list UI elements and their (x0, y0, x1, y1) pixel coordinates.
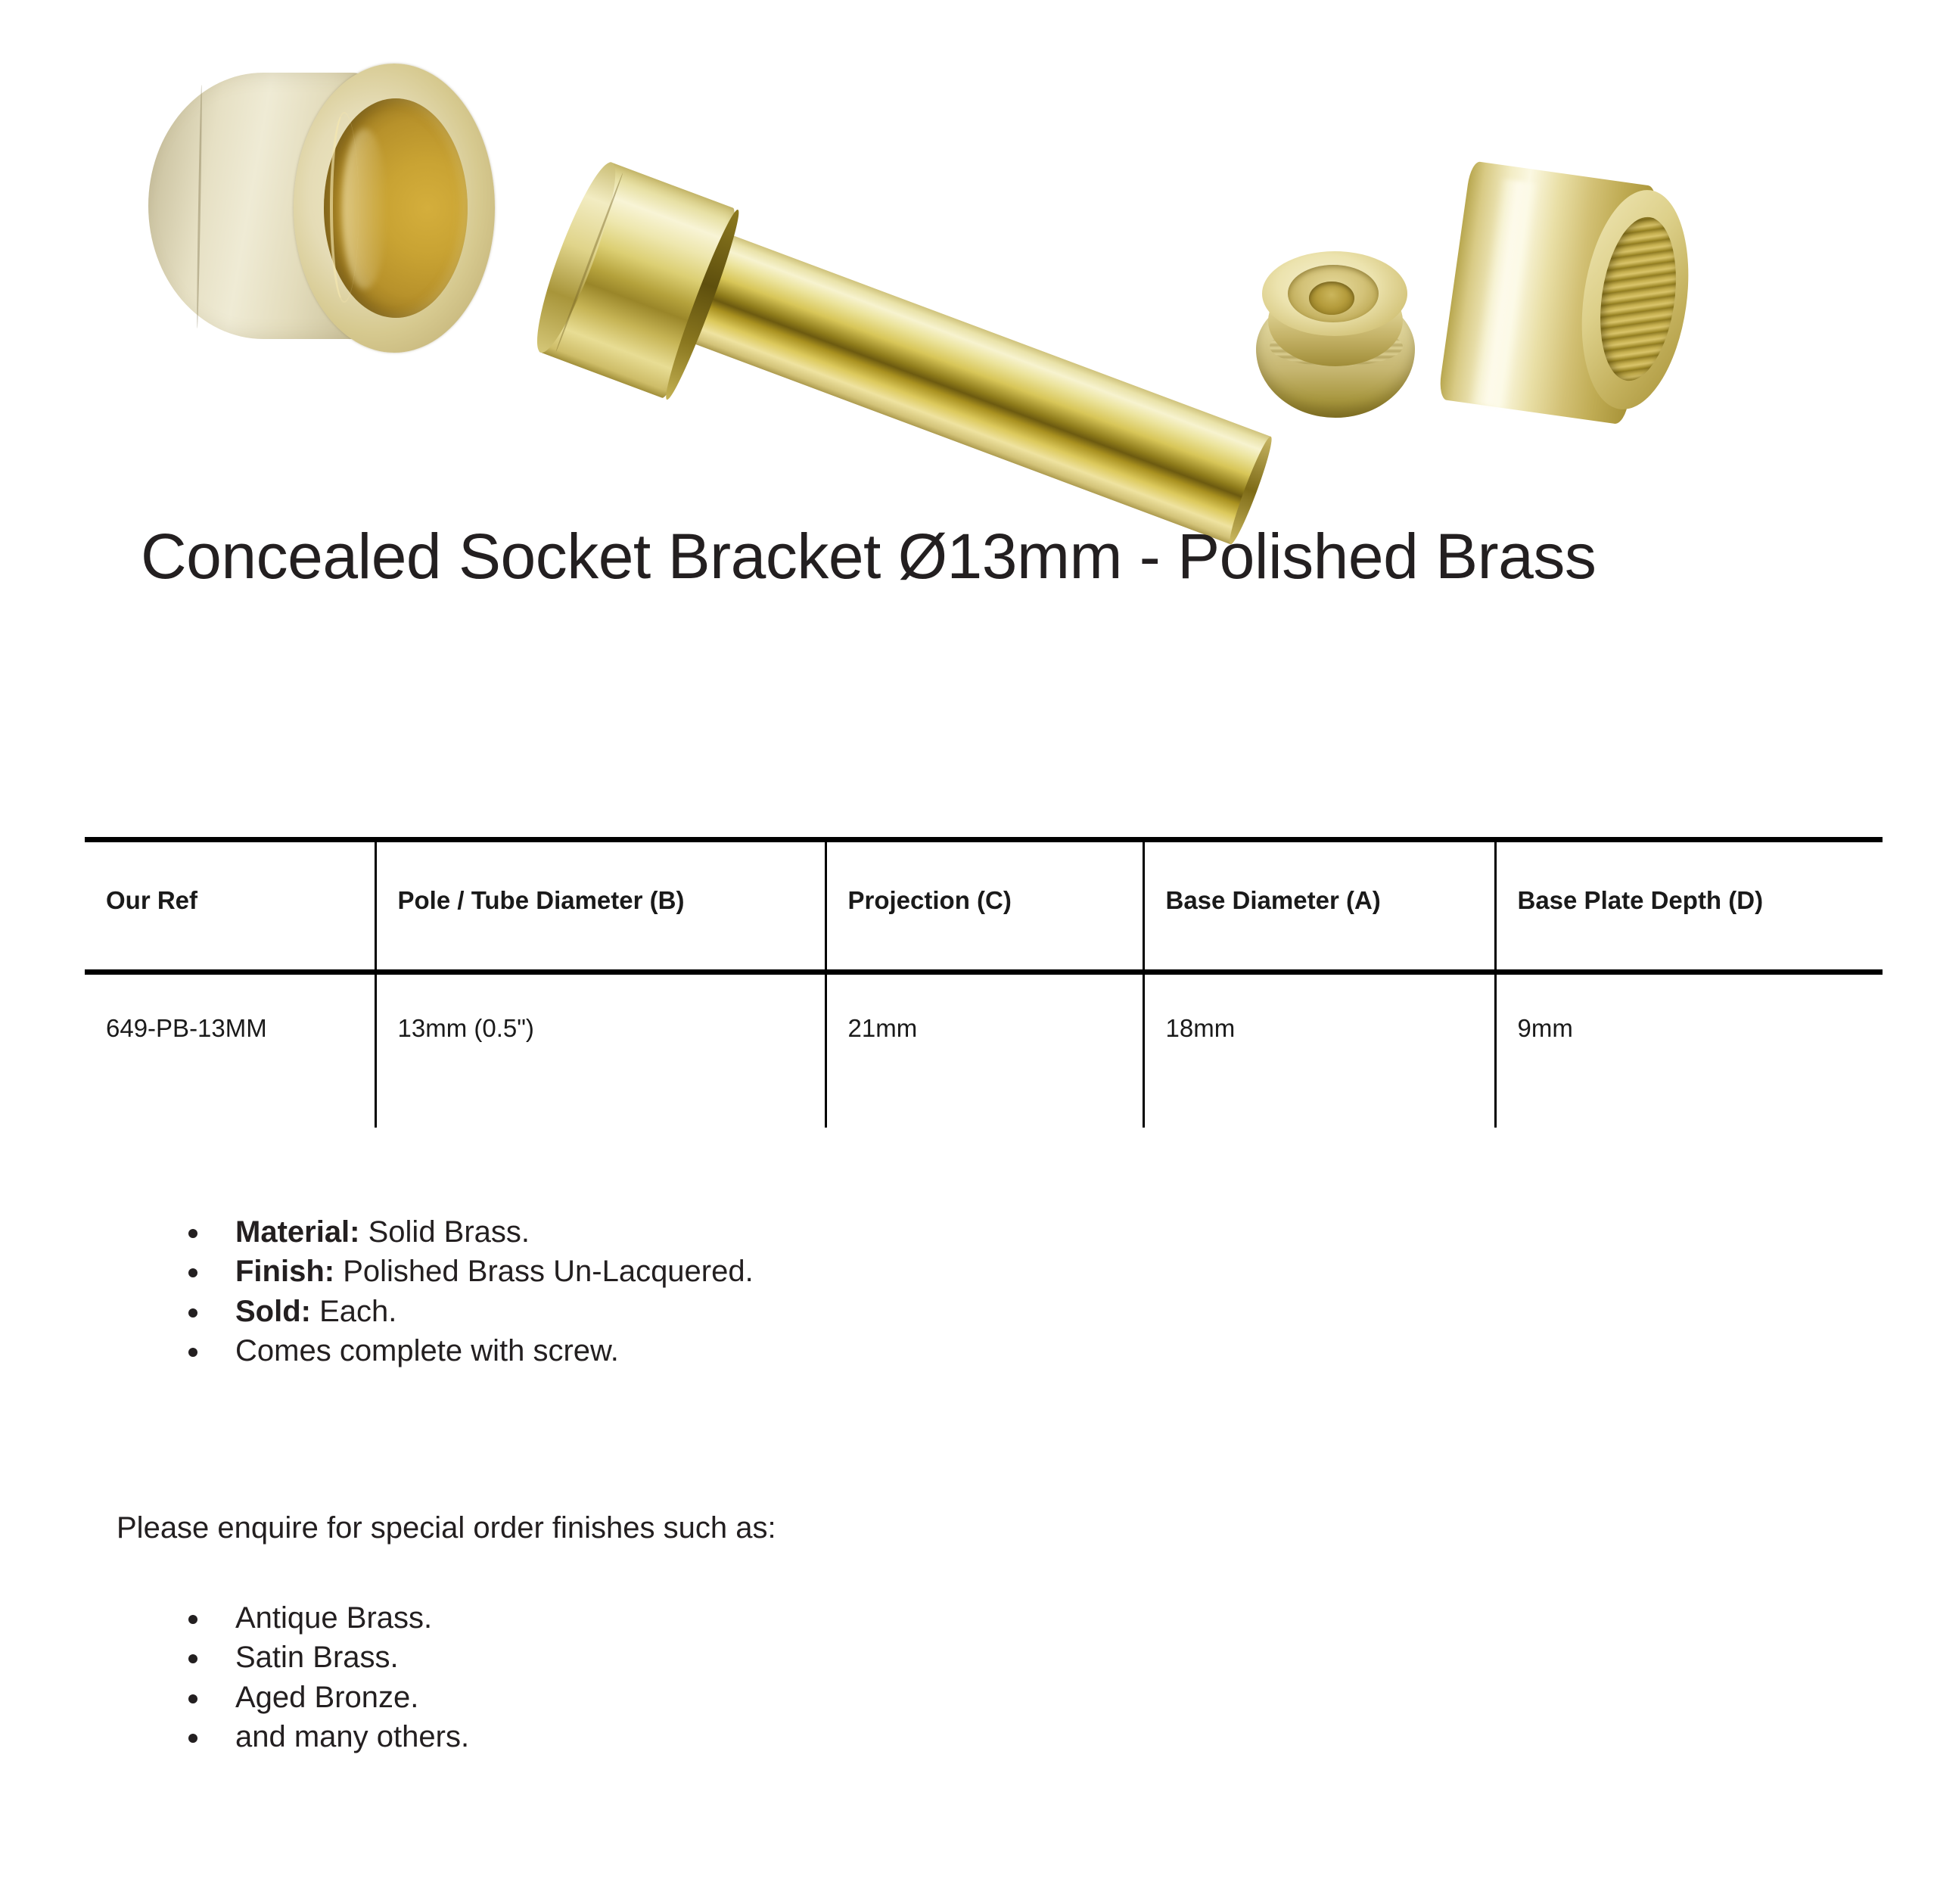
cell-our-ref: 649-PB-13MM (85, 972, 375, 1128)
spec-value-material: Solid Brass. (360, 1215, 530, 1249)
column-header-base-plate-depth: Base Plate Depth (D) (1495, 840, 1883, 972)
spec-table-body: 649-PB-13MM 13mm (0.5") 21mm 18mm 9mm (85, 972, 1883, 1128)
spec-label-sold: Sold: (235, 1295, 311, 1328)
list-item: Finish: Polished Brass Un-Lacquered. (185, 1252, 1774, 1291)
table-row: 649-PB-13MM 13mm (0.5") 21mm 18mm 9mm (85, 972, 1883, 1128)
cell-base-plate-depth: 9mm (1495, 972, 1883, 1128)
part-socket-cup (148, 59, 504, 354)
pole-tube-collar (530, 158, 743, 401)
spec-table: Our Ref Pole / Tube Diameter (B) Project… (85, 837, 1883, 1128)
spec-table-container: Our Ref Pole / Tube Diameter (B) Project… (85, 837, 1883, 1128)
list-item: and many others. (185, 1717, 1774, 1756)
part-threaded-sleeve (1449, 173, 1699, 422)
column-header-our-ref: Our Ref (85, 840, 375, 972)
cell-pole-tube-diameter: 13mm (0.5") (375, 972, 825, 1128)
specification-list: Material: Solid Brass. Finish: Polished … (185, 1212, 1774, 1371)
spec-value-sold: Each. (311, 1295, 396, 1328)
list-item: Antique Brass. (185, 1598, 1774, 1638)
list-item: Sold: Each. (185, 1292, 1774, 1331)
special-order-finish-list: Antique Brass. Satin Brass. Aged Bronze.… (185, 1598, 1774, 1757)
spec-value-finish: Polished Brass Un-Lacquered. (334, 1255, 754, 1288)
list-item: Material: Solid Brass. (185, 1212, 1774, 1252)
list-item: Aged Bronze. (185, 1678, 1774, 1717)
column-header-projection: Projection (C) (825, 840, 1143, 972)
list-item: Satin Brass. (185, 1638, 1774, 1677)
base-plate-screw-hole (1309, 282, 1354, 315)
cell-base-diameter: 18mm (1143, 972, 1495, 1128)
part-pole-tube (564, 163, 1267, 465)
page-title: Concealed Socket Bracket Ø13mm - Polishe… (141, 521, 1858, 593)
product-photo (0, 0, 1937, 469)
socket-cup-highlight (342, 129, 387, 289)
pole-tube-collar-cap (524, 157, 628, 359)
special-order-intro: Please enquire for special order finishe… (117, 1508, 776, 1548)
part-base-plate (1256, 248, 1430, 421)
column-header-pole-tube-diameter: Pole / Tube Diameter (B) (375, 840, 825, 972)
column-header-base-diameter: Base Diameter (A) (1143, 840, 1495, 972)
spec-value-screw: Comes complete with screw. (235, 1334, 619, 1367)
cell-projection: 21mm (825, 972, 1143, 1128)
list-item: Comes complete with screw. (185, 1331, 1774, 1370)
spec-label-finish: Finish: (235, 1255, 334, 1288)
spec-label-material: Material: (235, 1215, 360, 1249)
spec-table-head: Our Ref Pole / Tube Diameter (B) Project… (85, 840, 1883, 972)
table-header-row: Our Ref Pole / Tube Diameter (B) Project… (85, 840, 1883, 972)
